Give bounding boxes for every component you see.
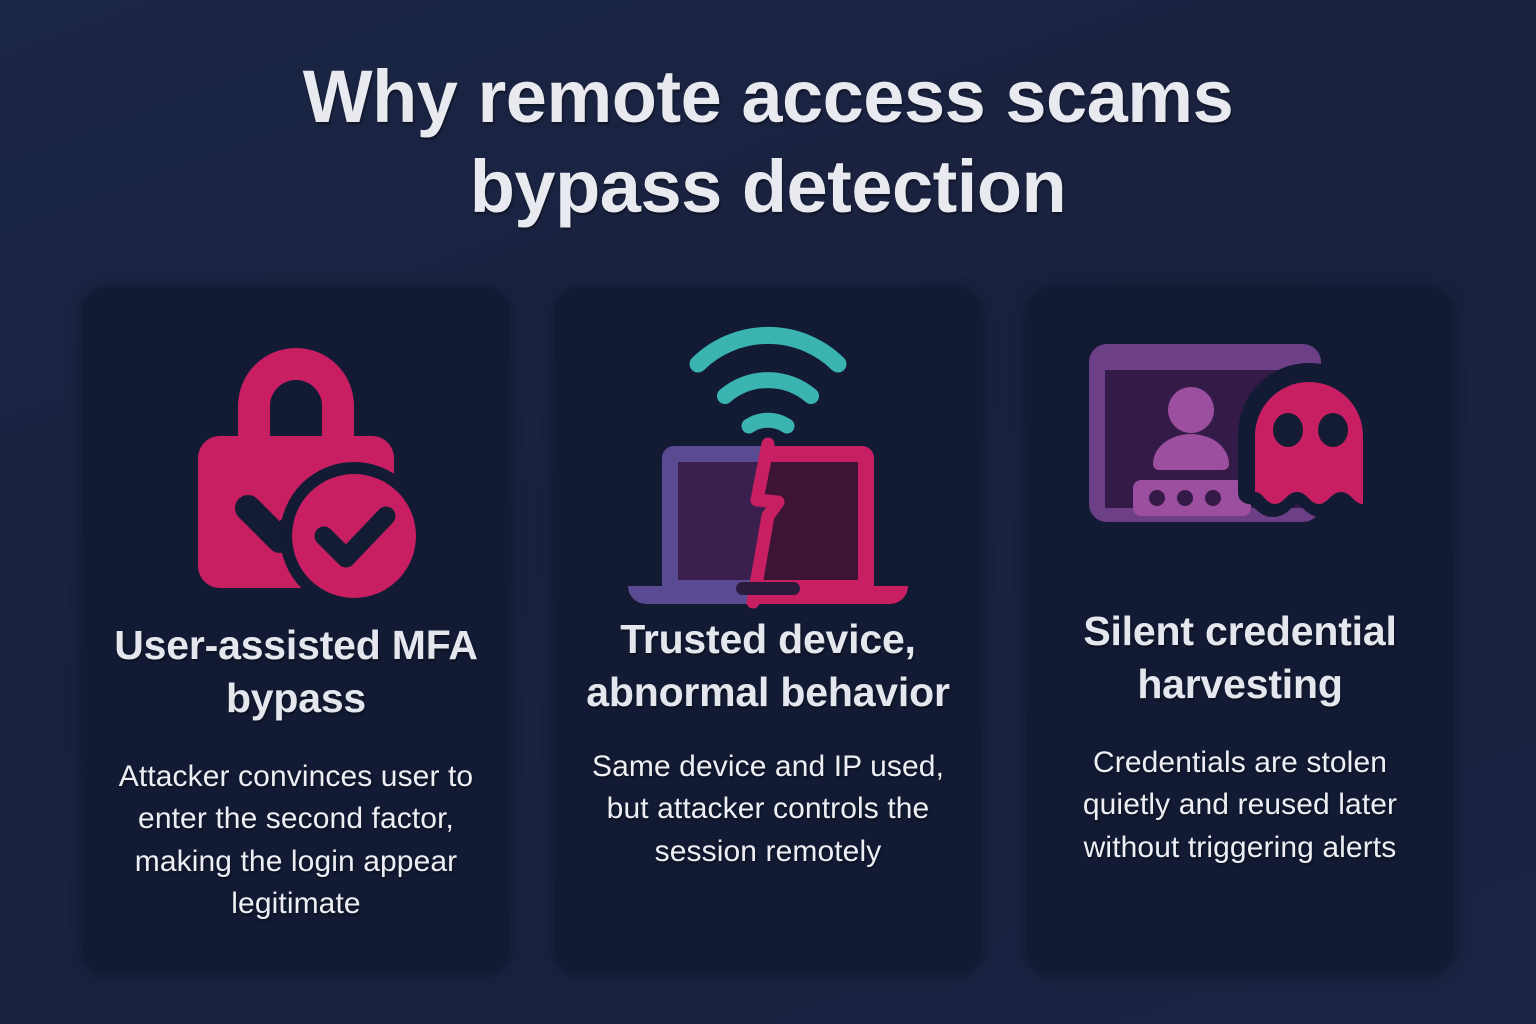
card-description: Credentials are stolen quietly and reuse… (1044, 742, 1436, 870)
card-title: User-assisted MFA bypass (100, 619, 492, 726)
login-card-ghost-icon (1044, 313, 1436, 605)
card-grid: User-assisted MFA bypass Attacker convin… (82, 287, 1454, 973)
wifi-arcs (698, 335, 838, 426)
card-trusted-device-abnormal-behavior: Trusted device, abnormal behavior Same d… (554, 287, 982, 973)
card-title: Silent credential harvesting (1044, 605, 1436, 712)
page-title-line-2: bypass detection (180, 142, 1356, 232)
page-title-line-1: Why remote access scams (180, 52, 1356, 142)
card-silent-credential-harvesting: Silent credential harvesting Credentials… (1026, 287, 1454, 973)
card-description: Same device and IP used, but attacker co… (572, 746, 964, 874)
cracked-laptop-wifi-icon (572, 313, 964, 613)
page-title: Why remote access scams bypass detection (0, 52, 1536, 233)
card-title: Trusted device, abnormal behavior (572, 613, 964, 720)
card-user-assisted-mfa-bypass: User-assisted MFA bypass Attacker convin… (82, 287, 510, 973)
lock-check-icon (100, 313, 492, 619)
infographic-root: Why remote access scams bypass detection (0, 0, 1536, 1024)
ghost-figure (1249, 374, 1369, 506)
card-description: Attacker convinces user to enter the sec… (100, 756, 492, 926)
